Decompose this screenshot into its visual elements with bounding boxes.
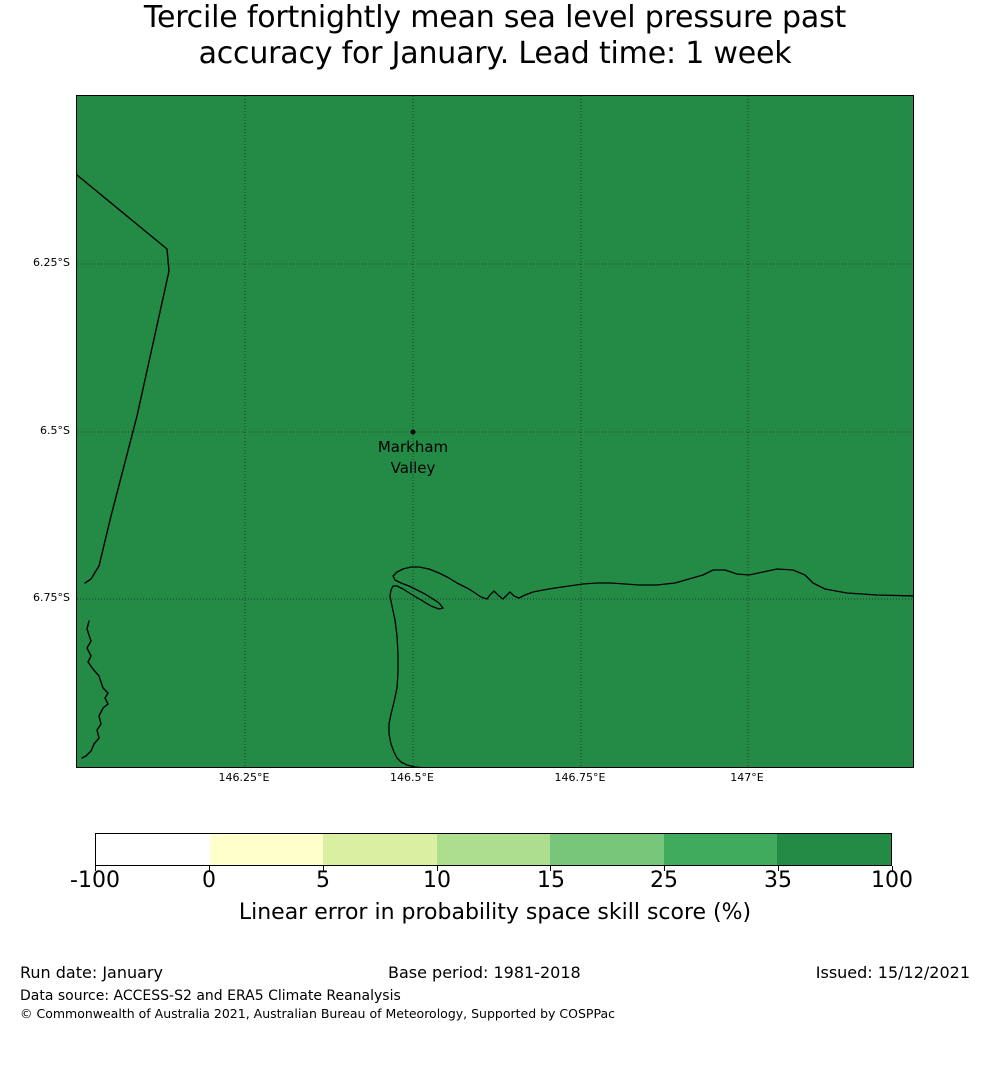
colorbar-tick-label-minus100: -100 xyxy=(70,868,120,894)
y-tick-label-6.5S: 6.5°S xyxy=(4,425,70,437)
colorbar xyxy=(95,833,892,866)
colorbar-tick-label-10: 10 xyxy=(423,868,451,894)
markham-valley-label-line-2: Valley xyxy=(378,458,448,479)
colorbar-tick-label-5: 5 xyxy=(316,868,330,894)
markham-valley-label-line-1: Markham xyxy=(378,437,448,458)
colorbar-tick-label-0: 0 xyxy=(202,868,216,894)
map-plot-area: Markham Valley xyxy=(76,95,914,768)
map-vector-layer xyxy=(77,96,914,768)
markham-valley-label: Markham Valley xyxy=(378,437,448,479)
x-tick-label-147E: 147°E xyxy=(730,772,763,784)
colorbar-tick-labels: -100 0 5 10 15 25 35 100 xyxy=(0,868,990,894)
y-axis-tick-labels: 6.25°S 6.5°S 6.75°S xyxy=(0,95,70,768)
markham-valley-marker xyxy=(411,430,416,435)
coastline-upper-left xyxy=(77,175,169,583)
figure-title-line-1: Tercile fortnightly mean sea level press… xyxy=(0,0,990,36)
x-tick-label-146.25E: 146.25°E xyxy=(219,772,270,784)
colorbar-tick-label-100: 100 xyxy=(871,868,913,894)
colorbar-tick-label-35: 35 xyxy=(764,868,792,894)
x-axis-tick-labels: 146.25°E 146.5°E 146.75°E 147°E xyxy=(76,772,914,792)
y-tick-label-6.75S: 6.75°S xyxy=(4,592,70,604)
map-gridlines xyxy=(77,96,914,768)
colorbar-band-6 xyxy=(664,834,778,865)
figure-title: Tercile fortnightly mean sea level press… xyxy=(0,0,990,72)
colorbar-band-3 xyxy=(323,834,437,865)
colorbar-band-4 xyxy=(437,834,551,865)
x-tick-label-146.75E: 146.75°E xyxy=(555,772,606,784)
colorbar-axis-label: Linear error in probability space skill … xyxy=(0,899,990,927)
colorbar-band-2 xyxy=(210,834,324,865)
colorbar-band-7 xyxy=(777,834,891,865)
y-tick-label-6.25S: 6.25°S xyxy=(4,257,70,269)
run-date-text: Run date: January xyxy=(20,962,163,984)
data-source-text: Data source: ACCESS-S2 and ERA5 Climate … xyxy=(20,987,401,1005)
x-tick-label-146.5E: 146.5°E xyxy=(390,772,434,784)
colorbar-band-5 xyxy=(550,834,664,865)
coastline-right xyxy=(389,567,914,768)
copyright-text: © Commonwealth of Australia 2021, Austra… xyxy=(20,1005,615,1022)
base-period-text: Base period: 1981-2018 xyxy=(388,962,581,984)
colorbar-tick-label-25: 25 xyxy=(650,868,678,894)
colorbar-bands xyxy=(95,833,892,866)
coastline-lower-left xyxy=(82,621,108,758)
figure-title-line-2: accuracy for January. Lead time: 1 week xyxy=(0,36,990,72)
footer-metadata-row: Run date: January Base period: 1981-2018… xyxy=(0,962,990,986)
issued-date-text: Issued: 15/12/2021 xyxy=(816,962,970,984)
colorbar-band-1 xyxy=(96,834,210,865)
colorbar-tick-label-15: 15 xyxy=(537,868,565,894)
